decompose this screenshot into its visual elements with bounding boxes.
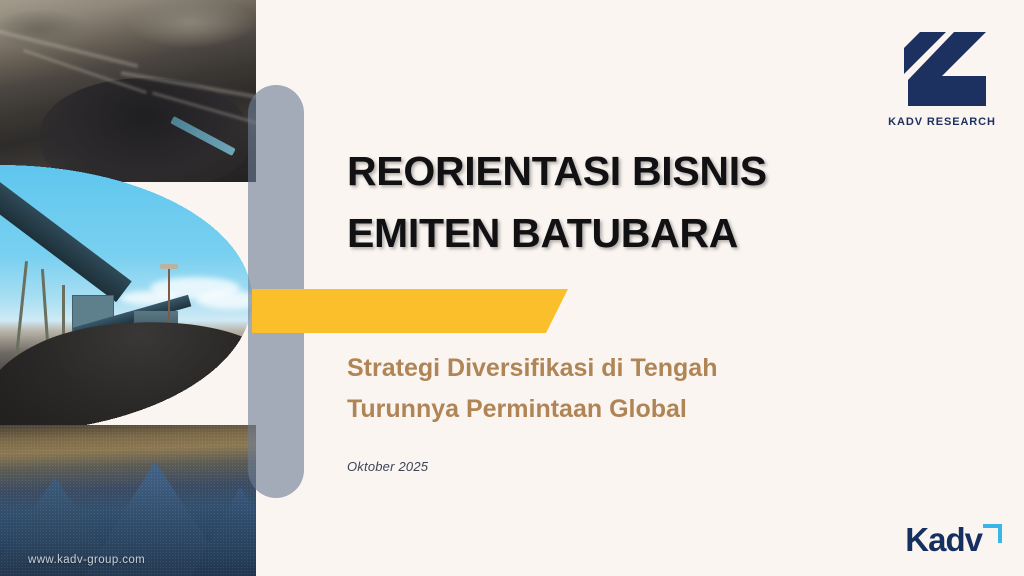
kadv-k-chevron-mark (890, 28, 994, 112)
coal-stockpile-heaps-photo: www.kadv-group.com (0, 425, 256, 576)
slide-subtitle-line-2: Turunnya Permintaan Global (347, 389, 887, 430)
accent-band-stripe (574, 289, 596, 333)
kadv-wordmark: Kadv (905, 523, 1002, 556)
coal-pile (0, 310, 256, 433)
corner-arrow-accent-icon (983, 524, 1002, 543)
cloud (196, 291, 256, 309)
photo-collage: www.kadv-group.com (0, 0, 256, 576)
title-slide: www.kadv-group.com REORIENTASI BISNIS EM… (0, 0, 1024, 576)
aerial-coal-mine-photo (0, 0, 256, 182)
slide-title-line-2: EMITEN BATUBARA (347, 202, 887, 264)
kadv-wordmark-text: Kadv (905, 523, 982, 556)
slide-subtitle-line-1: Strategi Diversifikasi di Tengah (347, 348, 887, 389)
conveyor-belt (0, 165, 132, 302)
light-pole (168, 268, 170, 324)
sky-ground-gradient (0, 165, 256, 433)
kadv-research-logo: KADV RESEARCH (878, 28, 1006, 128)
conveyor-support-leg (15, 261, 28, 357)
slide-title: REORIENTASI BISNIS EMITEN BATUBARA (347, 140, 887, 265)
accent-band-group (252, 289, 652, 333)
kadv-research-label: KADV RESEARCH (878, 116, 1006, 128)
slide-subtitle: Strategi Diversifikasi di Tengah Turunny… (347, 348, 887, 431)
coal-conveyor-stockpile-photo (0, 165, 256, 433)
website-url: www.kadv-group.com (28, 554, 145, 566)
accent-band (252, 289, 568, 333)
slide-date: Oktober 2025 (347, 459, 428, 474)
accent-band-stripe (604, 289, 626, 333)
mine-terrace-streak (0, 28, 138, 68)
slide-title-line-1: REORIENTASI BISNIS (347, 140, 887, 202)
